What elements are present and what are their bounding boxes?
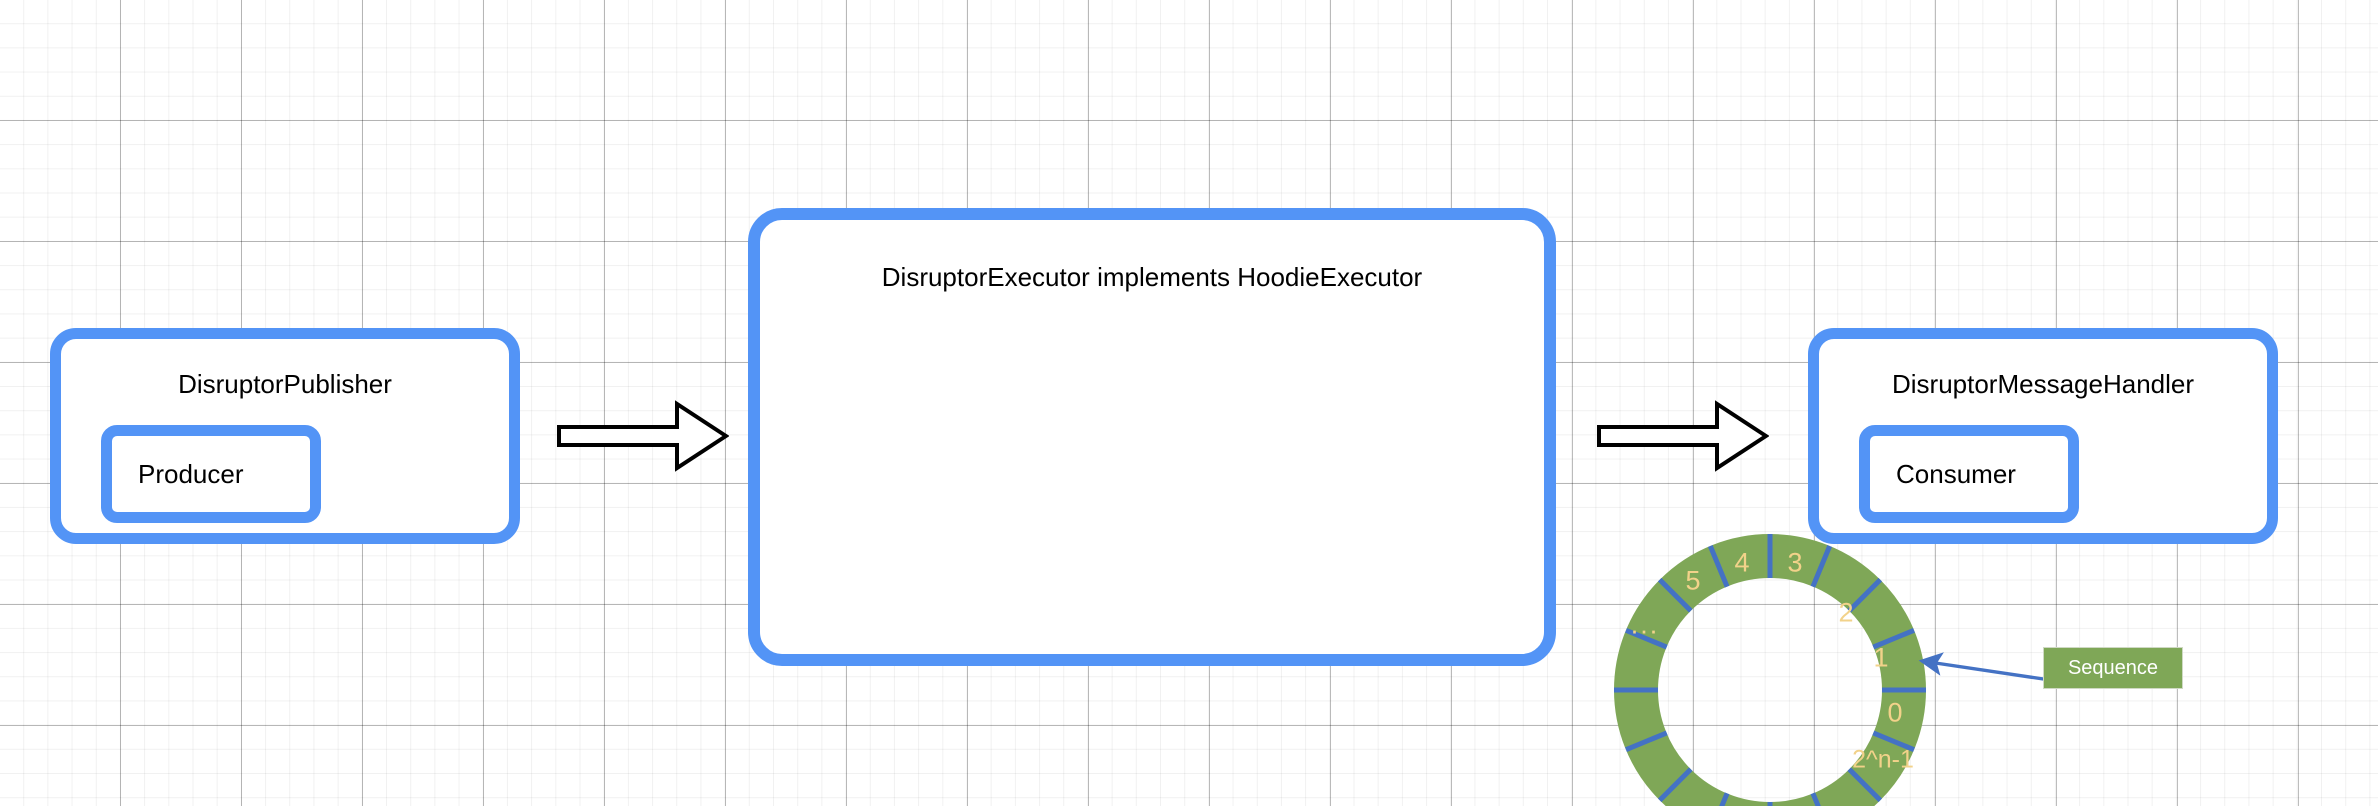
- block-arrow-right-icon: [557, 400, 729, 472]
- arrow-publisher-to-executor: [557, 400, 729, 477]
- ring-buffer-icon: [1603, 523, 1937, 806]
- arrow-executor-to-handler: [1597, 400, 1769, 477]
- sequence-box[interactable]: Sequence: [2043, 647, 2183, 689]
- ring-buffer[interactable]: 0 1 2 3 4 5 ... 2^n-1 ...: [1603, 523, 1937, 806]
- sequence-label: Sequence: [2068, 657, 2158, 680]
- disruptor-executor-box[interactable]: DisruptorExecutor implements HoodieExecu…: [748, 208, 1556, 666]
- consumer-box[interactable]: Consumer: [1859, 425, 2079, 523]
- diagram-canvas: DisruptorPublisher Producer DisruptorExe…: [0, 0, 2378, 806]
- sequence-to-slot-connector: [1910, 635, 2060, 705]
- disruptor-publisher-title: DisruptorPublisher: [61, 369, 509, 400]
- disruptor-message-handler-box[interactable]: DisruptorMessageHandler Consumer: [1808, 328, 2278, 544]
- consumer-label: Consumer: [1870, 459, 2016, 490]
- block-arrow-right-icon: [1597, 400, 1769, 472]
- disruptor-publisher-box[interactable]: DisruptorPublisher Producer: [50, 328, 520, 544]
- disruptor-executor-title: DisruptorExecutor implements HoodieExecu…: [760, 262, 1544, 293]
- producer-label: Producer: [112, 459, 244, 490]
- producer-box[interactable]: Producer: [101, 425, 321, 523]
- disruptor-message-handler-title: DisruptorMessageHandler: [1819, 369, 2267, 400]
